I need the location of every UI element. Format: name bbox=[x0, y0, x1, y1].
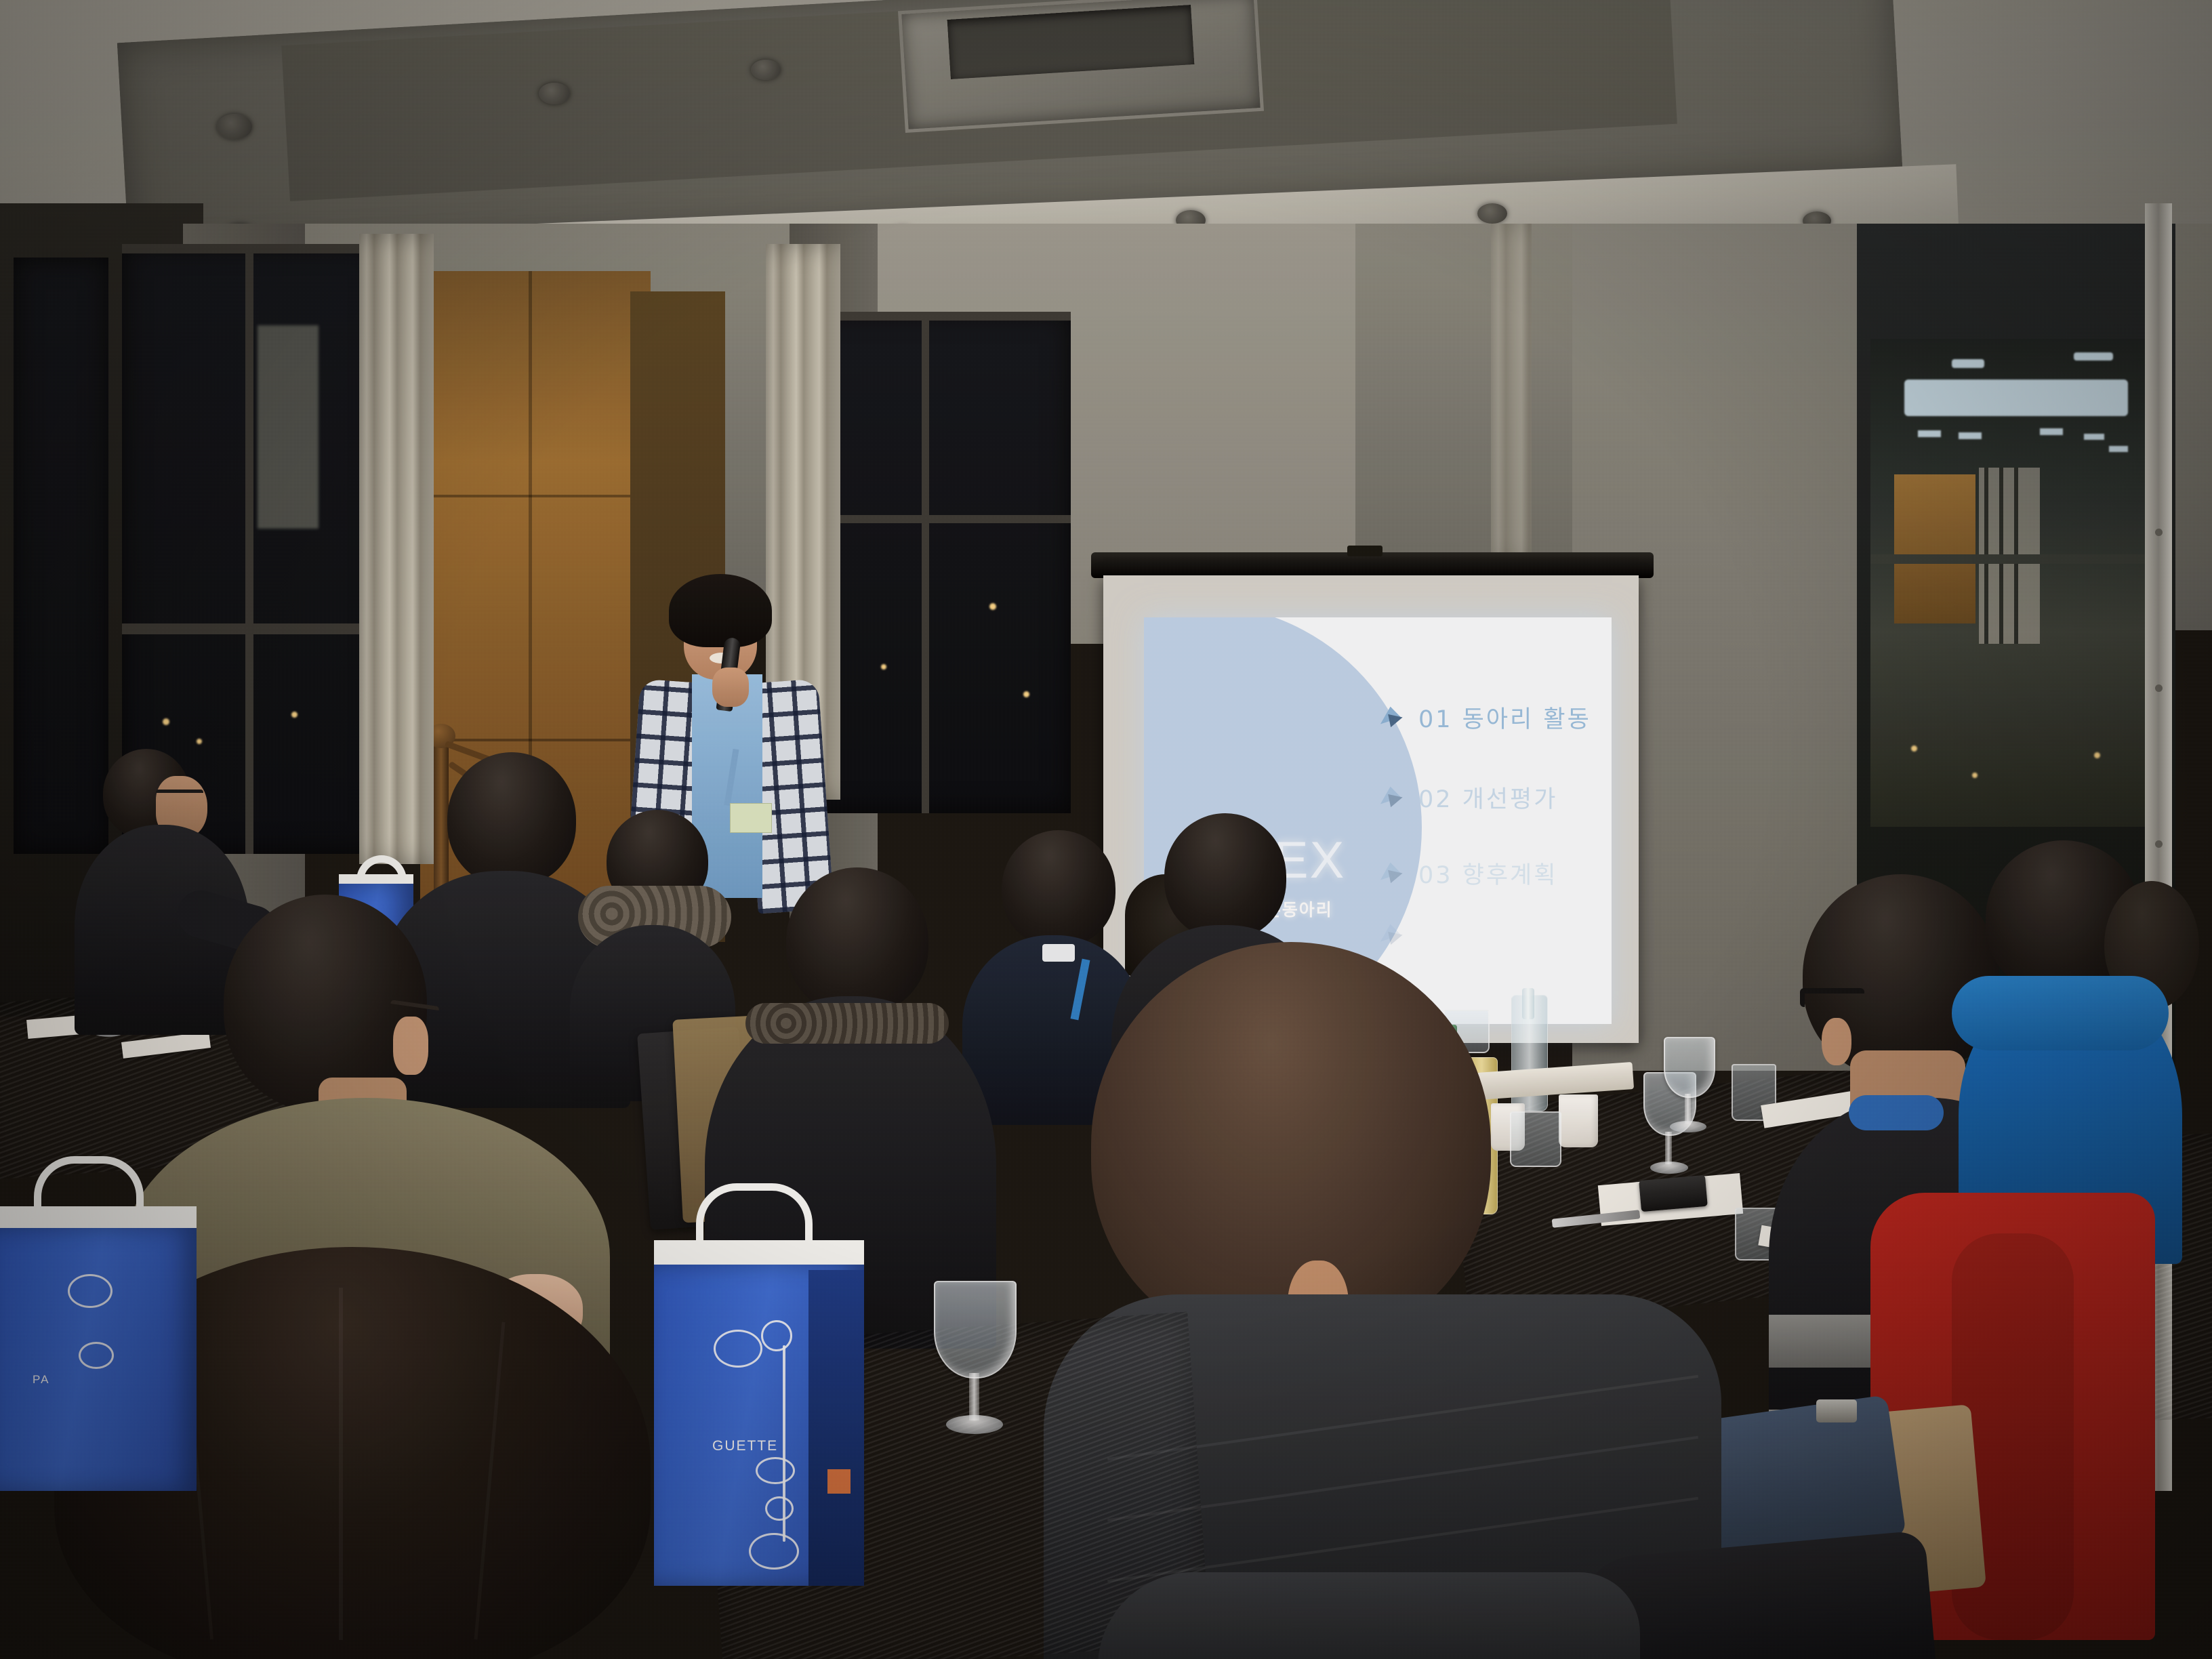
bag-brand-text: PA bbox=[33, 1373, 49, 1387]
screen-bar-mount bbox=[1347, 546, 1382, 556]
bag-swirl-decoration bbox=[756, 1457, 795, 1484]
bag-swirl-decoration bbox=[761, 1320, 792, 1351]
downlight-icon bbox=[217, 114, 252, 140]
paris-baguette-bag-bottom-left: PA bbox=[0, 1206, 197, 1491]
puffer-collar bbox=[1952, 976, 2169, 1050]
downlight-icon bbox=[539, 83, 570, 104]
window-right-reflection bbox=[1870, 339, 2162, 827]
head bbox=[1002, 830, 1115, 947]
bag-swirl-decoration bbox=[68, 1274, 112, 1308]
presenter-hand bbox=[712, 668, 749, 707]
presenter-name-badge bbox=[730, 803, 772, 833]
collar-fur bbox=[745, 1003, 949, 1044]
slide-item-label: 03 향후계획 bbox=[1418, 856, 1557, 890]
bag-accent-square bbox=[827, 1469, 851, 1494]
head bbox=[786, 867, 928, 1015]
collar-blue bbox=[1849, 1095, 1944, 1130]
hair-strand bbox=[339, 1288, 343, 1640]
ear bbox=[1822, 1018, 1851, 1065]
belt-buckle bbox=[1816, 1399, 1857, 1422]
presenter-hair bbox=[669, 574, 772, 647]
ear bbox=[393, 1017, 428, 1075]
bag-top-band bbox=[0, 1206, 197, 1231]
glasses-icon bbox=[156, 790, 203, 804]
downlight-icon bbox=[1477, 203, 1507, 224]
audience-member-bottom-center-jacket bbox=[1098, 1572, 1640, 1659]
bag-side-gusset bbox=[808, 1270, 864, 1586]
bag-swirl-decoration bbox=[79, 1342, 114, 1369]
slide-marker-icon bbox=[1378, 706, 1406, 729]
slide-item-01: 01 동아리 활동 bbox=[1378, 700, 1591, 735]
slide-marker-icon bbox=[1378, 786, 1406, 809]
downlight-icon bbox=[751, 60, 781, 80]
window-frame-screw bbox=[2155, 684, 2163, 692]
slide-item-02: 02 개선평가 bbox=[1378, 780, 1557, 815]
curtain-right bbox=[1491, 224, 1532, 562]
slide-marker-icon bbox=[1378, 862, 1406, 885]
bag-swirl-decoration bbox=[749, 1533, 799, 1570]
window-frame-screw bbox=[2155, 529, 2163, 536]
bag-swirl-decoration bbox=[765, 1496, 794, 1521]
head bbox=[1164, 813, 1286, 939]
slide-item-03: 03 향후계획 bbox=[1378, 856, 1557, 890]
glasses-icon bbox=[1800, 988, 1864, 1007]
slide-item-label: 02 개선평가 bbox=[1418, 780, 1557, 815]
head bbox=[447, 752, 576, 886]
photo-scene: INDEX 99분 토론동아리 01 동아리 활동 02 개선평가 03 향후계… bbox=[0, 0, 2212, 1659]
slide-item-label: 01 동아리 활동 bbox=[1418, 700, 1591, 735]
